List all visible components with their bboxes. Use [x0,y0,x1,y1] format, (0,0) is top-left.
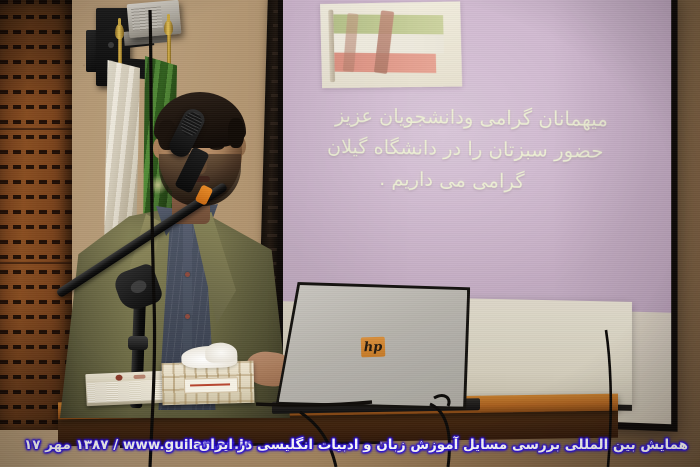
book-marker-secondary [133,375,145,380]
speaker-grill [131,6,163,31]
tissue-box-label [184,377,238,393]
clip-opening [129,278,148,295]
microphone-stand-collar [128,336,148,350]
tissue-sheet-secondary [205,342,238,363]
bracket-bolt [108,42,114,48]
shirt-button [185,272,190,277]
shirt-button [185,314,190,319]
wall-speaker [127,0,182,38]
flagpole-finial [115,24,124,39]
tissue-box [161,361,254,405]
white-panel-board [452,298,632,406]
hp-logo-icon: hp [361,337,386,358]
photograph-canvas: میهمانان گرامی ودانشجویان عزیز حضور سبزت… [0,0,700,467]
flagpole-finial [164,20,173,35]
laptop: hp [277,283,469,410]
